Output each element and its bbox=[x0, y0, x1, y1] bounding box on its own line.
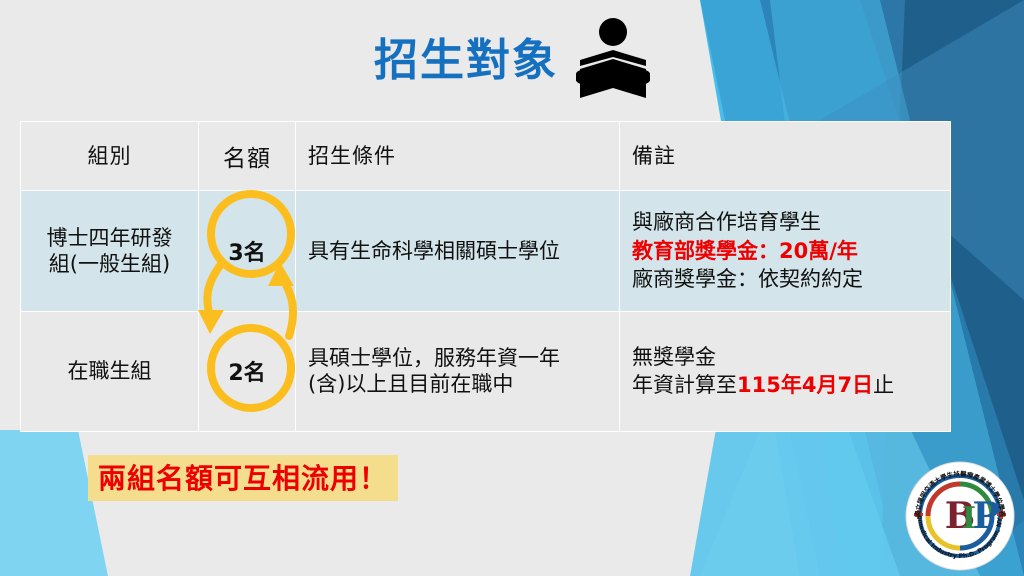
svg-text:I: I bbox=[962, 501, 976, 536]
table-header-row: 組別 名額 招生條件 備註 bbox=[21, 122, 951, 191]
note-prefix: 年資計算至 bbox=[632, 373, 737, 397]
note-line-with-date: 年資計算至115年4月7日止 bbox=[632, 371, 938, 399]
bip-program-logo: B P I 國立陽明交通大學生技醫療產業博士學位學程 Biomedical In… bbox=[904, 460, 1016, 572]
table-row: 在職生組 2名 具碩士學位，服務年資一年 (含)以上且目前在職中 無獎學金 年資… bbox=[21, 311, 951, 432]
note-suffix: 止 bbox=[873, 373, 894, 397]
table-body: 博士四年研發 組(一般生組) 3名 具有生命科學相關碩士學位 與廠商合作培育學生… bbox=[21, 191, 951, 432]
cell-quota-1: 3名 bbox=[199, 191, 296, 312]
footnote-banner: 兩組名額可互相流用！ bbox=[88, 455, 398, 501]
note-line: 與廠商合作培育學生 bbox=[632, 208, 938, 236]
group-line: 組(一般生組) bbox=[33, 251, 186, 277]
cell-condition-1: 具有生命科學相關碩士學位 bbox=[296, 191, 620, 312]
condition-line: 具碩士學位，服務年資一年 bbox=[308, 345, 607, 371]
column-header-condition: 招生條件 bbox=[296, 122, 620, 191]
column-header-note: 備註 bbox=[620, 122, 951, 191]
quota-value: 3名 bbox=[228, 241, 265, 266]
table-head: 組別 名額 招生條件 備註 bbox=[21, 122, 951, 191]
admission-table: 組別 名額 招生條件 備註 博士四年研發 組(一般生組) 3名 具有生命科學相關… bbox=[20, 121, 951, 432]
group-line: 博士四年研發 bbox=[33, 225, 186, 251]
slide-canvas: 招生對象 組別 名額 招生條件 備註 博士四年研 bbox=[0, 0, 1024, 576]
note-line: 廠商獎學金：依契約約定 bbox=[632, 265, 938, 293]
cell-group-2: 在職生組 bbox=[21, 311, 199, 432]
cell-group-1: 博士四年研發 組(一般生組) bbox=[21, 191, 199, 312]
condition-line: (含)以上且目前在職中 bbox=[308, 371, 607, 397]
note-date-highlight: 115年4月7日 bbox=[737, 373, 873, 397]
quota-value: 2名 bbox=[228, 361, 265, 386]
column-header-group: 組別 bbox=[21, 122, 199, 191]
group-line: 在職生組 bbox=[33, 358, 186, 384]
cell-condition-2: 具碩士學位，服務年資一年 (含)以上且目前在職中 bbox=[296, 311, 620, 432]
cell-note-2: 無獎學金 年資計算至115年4月7日止 bbox=[620, 311, 951, 432]
note-line-highlight: 教育部獎學金：20萬/年 bbox=[632, 237, 938, 265]
note-line: 無獎學金 bbox=[632, 343, 938, 371]
table-row: 博士四年研發 組(一般生組) 3名 具有生命科學相關碩士學位 與廠商合作培育學生… bbox=[21, 191, 951, 312]
cell-quota-2: 2名 bbox=[199, 311, 296, 432]
column-header-quota: 名額 bbox=[199, 122, 296, 191]
cell-note-1: 與廠商合作培育學生 教育部獎學金：20萬/年 廠商獎學金：依契約約定 bbox=[620, 191, 951, 312]
condition-line: 具有生命科學相關碩士學位 bbox=[308, 238, 607, 264]
